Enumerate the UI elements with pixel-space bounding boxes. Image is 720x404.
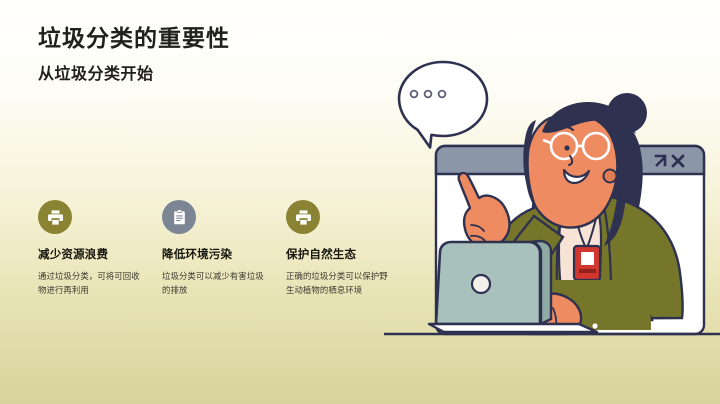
feature-item-3: 保护自然生态 正确的垃圾分类可以保护野生动植物的栖息环境	[286, 200, 390, 297]
feature-heading: 保护自然生态	[286, 248, 390, 263]
feature-body: 通过垃圾分类，可将可回收物进行再利用	[38, 270, 142, 297]
heading-block: 垃圾分类的重要性 从垃圾分类开始	[38, 24, 398, 84]
feature-list: 减少资源浪费 通过垃圾分类，可将可回收物进行再利用 降低环境污染 垃圾分类可以减…	[38, 200, 398, 297]
face	[526, 114, 617, 228]
feature-item-1: 减少资源浪费 通过垃圾分类，可将可回收物进行再利用	[38, 200, 142, 297]
feature-body: 正确的垃圾分类可以保护野生动植物的栖息环境	[286, 270, 390, 297]
feature-item-2: 降低环境污染 垃圾分类可以减少有害垃圾的排放	[162, 200, 266, 297]
feature-heading: 降低环境污染	[162, 248, 266, 263]
feature-heading: 减少资源浪费	[38, 248, 142, 263]
page-title: 垃圾分类的重要性	[38, 24, 398, 53]
feature-body: 垃圾分类可以减少有害垃圾的排放	[162, 270, 266, 297]
printer-icon	[286, 200, 320, 234]
speech-bubble-graphic	[399, 62, 487, 148]
illustration	[384, 58, 720, 404]
printer-icon	[38, 200, 72, 234]
slide-root: 垃圾分类的重要性 从垃圾分类开始 减少资源浪费 通过垃圾分类，可将可回收物进行再…	[0, 0, 720, 404]
page-subtitle: 从垃圾分类开始	[38, 65, 398, 84]
clipboard-icon	[162, 200, 196, 234]
